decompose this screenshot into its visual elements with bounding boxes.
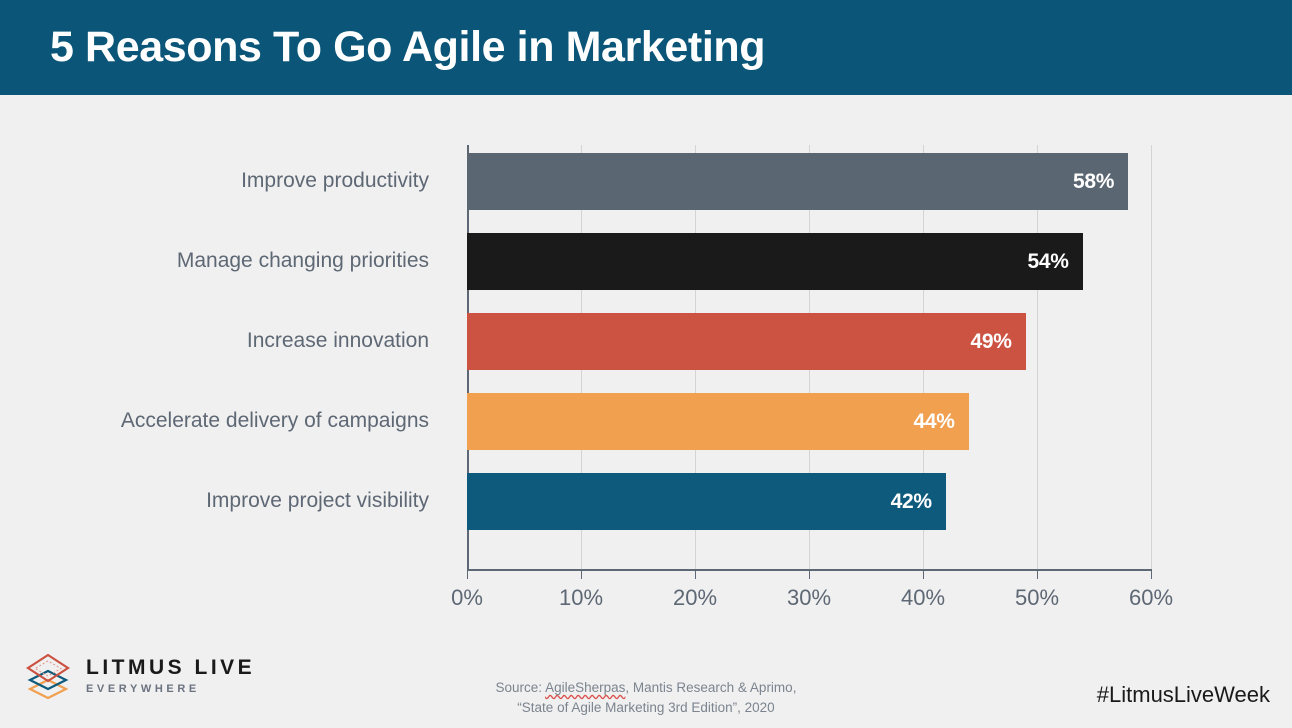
event-hashtag: #LitmusLiveWeek [1097,682,1270,708]
x-axis-tick-label: 10% [559,585,603,611]
x-axis-tick-label: 60% [1129,585,1173,611]
x-axis-tick-label: 30% [787,585,831,611]
bar-row: 44% [467,393,969,450]
bar[interactable]: 58% [467,153,1128,210]
bar-value-label: 54% [1027,250,1068,274]
slide-footer: LITMUS LIVE EVERYWHERE Source: AgileSher… [0,640,1292,728]
x-axis-tick-label: 0% [451,585,483,611]
category-label: Improve productivity [0,169,449,193]
category-label: Accelerate delivery of campaigns [0,409,449,433]
bar-row: 58% [467,153,1128,210]
bar-value-label: 58% [1073,170,1114,194]
x-axis-tick [1037,571,1038,579]
category-label: Improve project visibility [0,489,449,513]
x-axis-tick-label: 50% [1015,585,1059,611]
x-axis-tick [467,571,468,579]
source-misspelled-word: AgileSherpas [545,680,625,695]
x-axis-tick [581,571,582,579]
x-axis-tick [1151,571,1152,579]
x-axis-tick [809,571,810,579]
bar-value-label: 49% [970,330,1011,354]
bar[interactable]: 42% [467,473,946,530]
gridline [1151,145,1152,570]
source-suffix: , Mantis Research & Aprimo, [625,680,796,695]
bar-row: 42% [467,473,946,530]
bar-row: 49% [467,313,1026,370]
category-label: Increase innovation [0,329,449,353]
x-axis-tick-label: 20% [673,585,717,611]
bar-chart: 0%10%20%30%40%50%60%58%Improve productiv… [0,95,1292,640]
logo-name: LITMUS LIVE [86,657,255,679]
bar[interactable]: 54% [467,233,1083,290]
source-prefix: Source: [496,680,546,695]
x-axis-tick [695,571,696,579]
x-axis-tick [923,571,924,579]
bar[interactable]: 49% [467,313,1026,370]
category-label: Manage changing priorities [0,249,449,273]
bar-value-label: 42% [891,490,932,514]
bar-row: 54% [467,233,1083,290]
slide-header-band: 5 Reasons To Go Agile in Marketing [0,0,1292,95]
x-axis-tick-label: 40% [901,585,945,611]
bar[interactable]: 44% [467,393,969,450]
page-title: 5 Reasons To Go Agile in Marketing [50,23,765,72]
bar-value-label: 44% [913,410,954,434]
